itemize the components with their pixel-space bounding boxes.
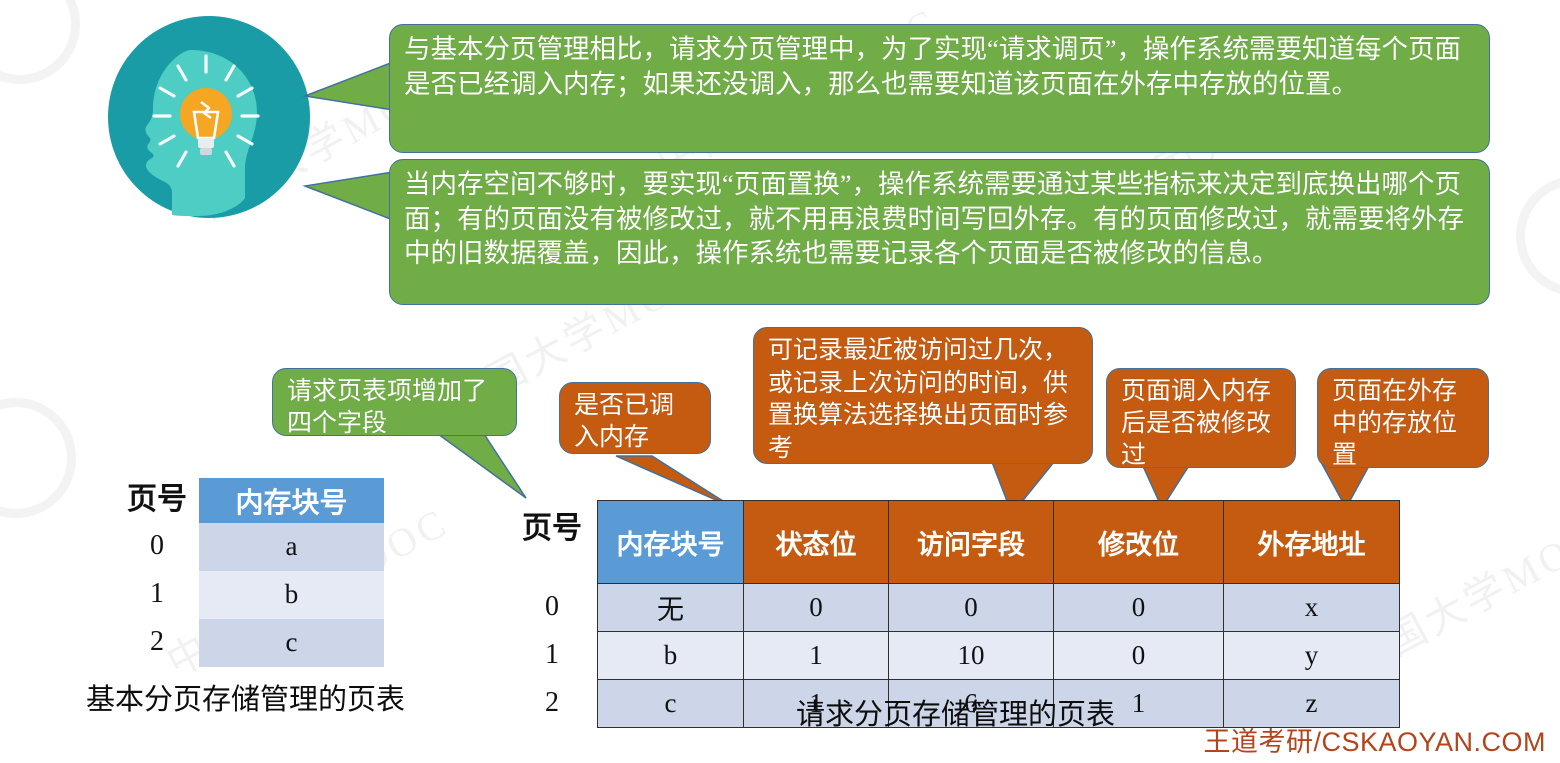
column-header-status-bit: 状态位	[744, 501, 889, 584]
basic-paging-page-table: 内存块号 a b c	[199, 478, 384, 667]
callout-text: 与基本分页管理相比，请求分页管理中，为了实现“请求调页”，操作系统需要知道每个页…	[404, 34, 1461, 99]
column-header-modify-bit: 修改位	[1054, 501, 1224, 584]
basic-table-gutter-header: 页号	[122, 478, 192, 522]
background-watermark-ring	[0, 398, 76, 518]
background-watermark-ring	[1516, 176, 1560, 296]
basic-paging-page-table-wrap: 内存块号 a b c	[199, 478, 384, 667]
table-row[interactable]: 无 0 0 0 x	[598, 584, 1400, 632]
callout-text: 页面调入内存后是否被修改过	[1121, 378, 1271, 469]
callout-text: 当内存空间不够时，要实现“页面置换”，操作系统需要通过某些指标来决定到底换出哪个…	[404, 169, 1464, 268]
table-row[interactable]: c	[200, 619, 384, 667]
slide-canvas: 中国大学MOOC 中国大学MOOC 中国大学MOOC 中国大学MOOC 中国大学…	[0, 0, 1560, 763]
demand-table-gutter: 页号 0 1 2	[514, 500, 590, 727]
cell-memory-block: 无	[598, 584, 744, 632]
column-header-memory-block: 内存块号	[200, 479, 384, 523]
callout-status-bit: 是否已调入内存	[559, 382, 711, 454]
head-with-lightbulb-icon	[106, 14, 312, 220]
cell-status-bit: 0	[744, 584, 889, 632]
cell-modify-bit: 0	[1054, 584, 1224, 632]
cell-memory-block: b	[598, 632, 744, 680]
table-row[interactable]: b 1 10 0 y	[598, 632, 1400, 680]
column-header-access-field: 访问字段	[889, 501, 1054, 584]
cell-access-field: 10	[889, 632, 1054, 680]
demand-table-page-no: 0	[514, 583, 590, 631]
basic-table-page-no: 1	[122, 570, 192, 618]
column-header-external-addr: 外存地址	[1224, 501, 1400, 584]
callout-text: 请求页表项增加了四个字段	[287, 378, 487, 437]
cell-access-field: 0	[889, 584, 1054, 632]
cell-memory-block: c	[200, 619, 384, 667]
callout-external-address: 页面在外存中的存放位置	[1317, 368, 1489, 468]
table-header-row: 内存块号 状态位 访问字段 修改位 外存地址	[598, 501, 1400, 584]
basic-table-gutter: 页号 0 1 2	[122, 478, 192, 666]
cell-external-addr: x	[1224, 584, 1400, 632]
table-row[interactable]: b	[200, 571, 384, 619]
cell-external-addr: y	[1224, 632, 1400, 680]
demand-table-page-no: 2	[514, 679, 590, 727]
demand-table-gutter-header: 页号	[514, 500, 590, 583]
callout-text: 是否已调入内存	[574, 392, 674, 451]
callout-text: 页面在外存中的存放位置	[1332, 378, 1457, 469]
column-header-memory-block: 内存块号	[598, 501, 744, 584]
brand-watermark: 王道考研/CSKAOYAN.COM	[1203, 720, 1546, 759]
cell-status-bit: 1	[744, 632, 889, 680]
basic-table-page-no: 0	[122, 522, 192, 570]
cell-memory-block: a	[200, 523, 384, 571]
demand-table-caption: 请求分页存储管理的页表	[796, 691, 1115, 733]
cell-modify-bit: 0	[1054, 632, 1224, 680]
cell-memory-block: c	[598, 680, 744, 728]
callout-access-field: 可记录最近被访问过几次，或记录上次访问的时间，供置换算法选择换出页面时参考	[753, 327, 1093, 464]
callout-page-replacement-need: 当内存空间不够时，要实现“页面置换”，操作系统需要通过某些指标来决定到底换出哪个…	[389, 159, 1490, 305]
cell-memory-block: b	[200, 571, 384, 619]
basic-table-caption: 基本分页存储管理的页表	[86, 676, 405, 718]
demand-table-page-no: 1	[514, 631, 590, 679]
background-watermark-ring	[0, 0, 80, 84]
callout-demand-paging-need: 与基本分页管理相比，请求分页管理中，为了实现“请求调页”，操作系统需要知道每个页…	[389, 24, 1490, 153]
callout-text: 可记录最近被访问过几次，或记录上次访问的时间，供置换算法选择换出页面时参考	[768, 337, 1068, 462]
table-header-row: 内存块号	[200, 479, 384, 523]
basic-table-page-no: 2	[122, 618, 192, 666]
table-row[interactable]: a	[200, 523, 384, 571]
callout-modify-bit: 页面调入内存后是否被修改过	[1106, 368, 1296, 468]
callout-four-new-fields: 请求页表项增加了四个字段	[272, 368, 517, 436]
